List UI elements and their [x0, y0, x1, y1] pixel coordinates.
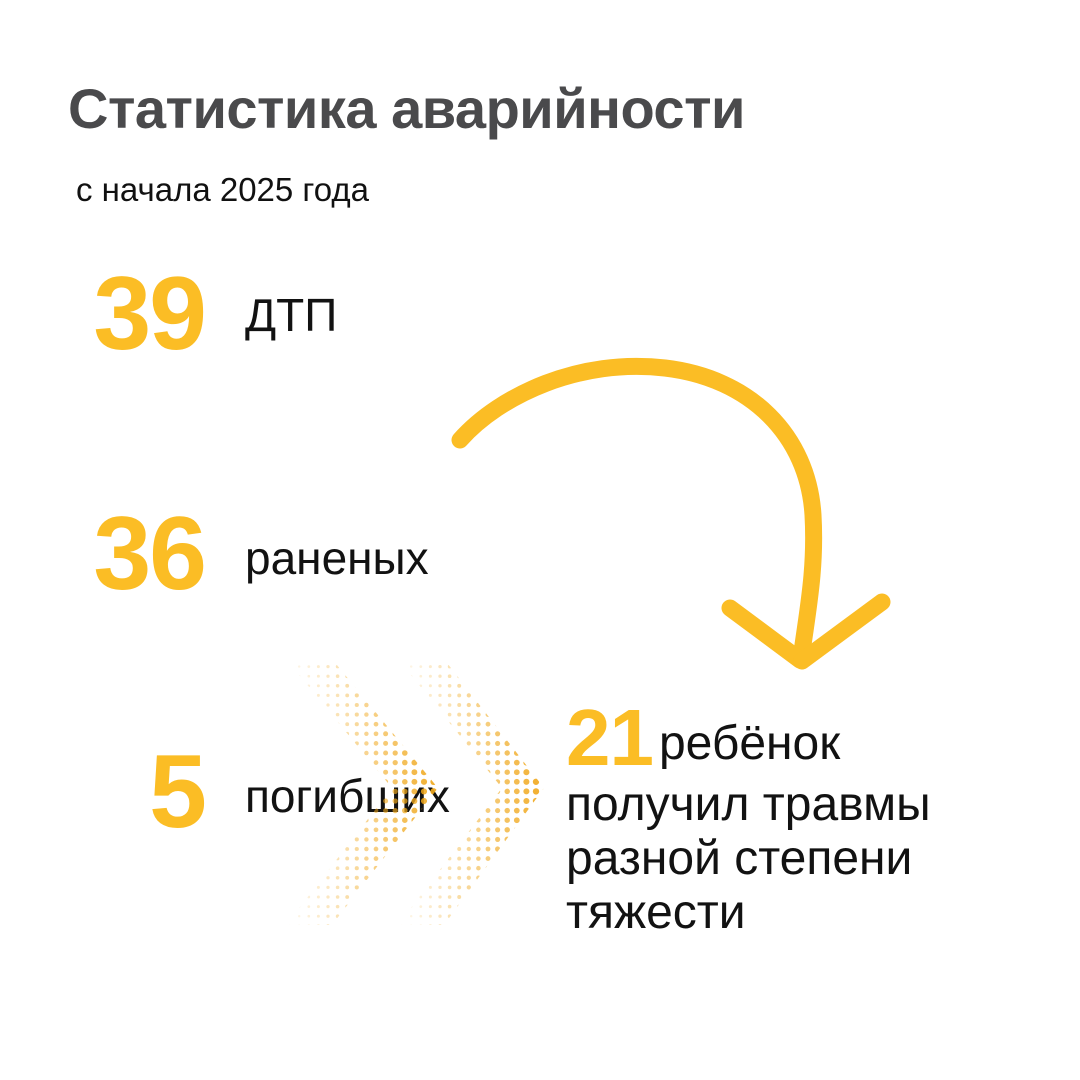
stat-value-accidents: 39 — [0, 262, 205, 366]
list-item: 39 ДТП — [0, 252, 520, 370]
highlight-number: 21 — [566, 693, 653, 782]
stat-value-killed: 5 — [0, 740, 205, 844]
stats-list: 39 ДТП 36 раненых 5 погибших — [0, 252, 520, 606]
highlight-text: 21ребёнок получил травмы разной степени … — [566, 698, 986, 939]
page-subtitle: с начала 2025 года — [76, 172, 369, 208]
highlight-block: 21ребёнок получил травмы разной степени … — [566, 698, 986, 939]
stat-label-killed: погибших — [245, 773, 450, 819]
infographic-canvas: Статистика аварийности с начала 2025 год… — [0, 0, 1080, 1080]
list-item: 5 погибших — [0, 488, 520, 606]
page-title: Статистика аварийности — [68, 80, 745, 139]
list-item: 36 раненых — [0, 370, 520, 488]
stat-label-accidents: ДТП — [245, 292, 337, 338]
